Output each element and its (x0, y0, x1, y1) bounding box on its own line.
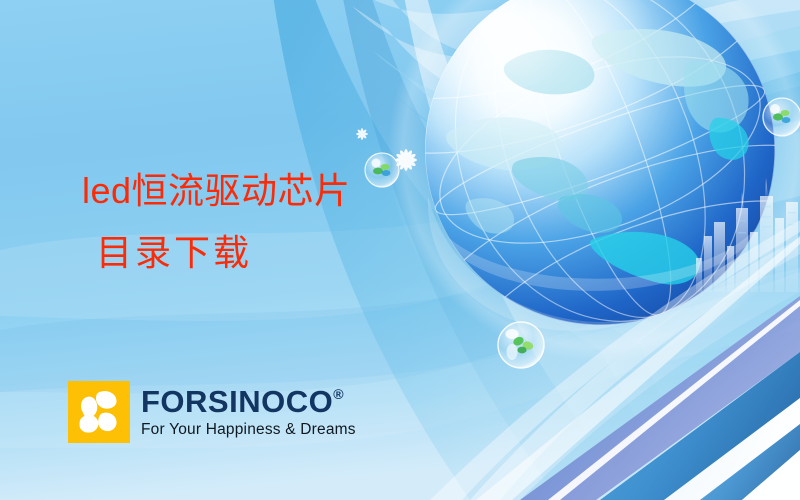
brand-logo: FORSINOCO ® For Your Happiness & Dreams (68, 381, 356, 443)
banner-canvas: led恒流驱动芯片 目录下载 FORSINOCO ® For Your Happ… (0, 0, 800, 500)
sparkle-small (356, 128, 368, 140)
logo-wordmark: FORSINOCO ® (141, 386, 356, 417)
bubble-left (365, 153, 399, 187)
pinwheel-petals-icon (68, 381, 130, 443)
logo-wordmark-text: FORSINOCO (141, 386, 333, 417)
bubble-right (763, 98, 800, 136)
logo-text-block: FORSINOCO ® For Your Happiness & Dreams (141, 381, 356, 443)
logo-tagline: For Your Happiness & Dreams (141, 422, 356, 438)
registered-trademark-icon: ® (333, 387, 344, 401)
bubble-center (498, 322, 544, 368)
